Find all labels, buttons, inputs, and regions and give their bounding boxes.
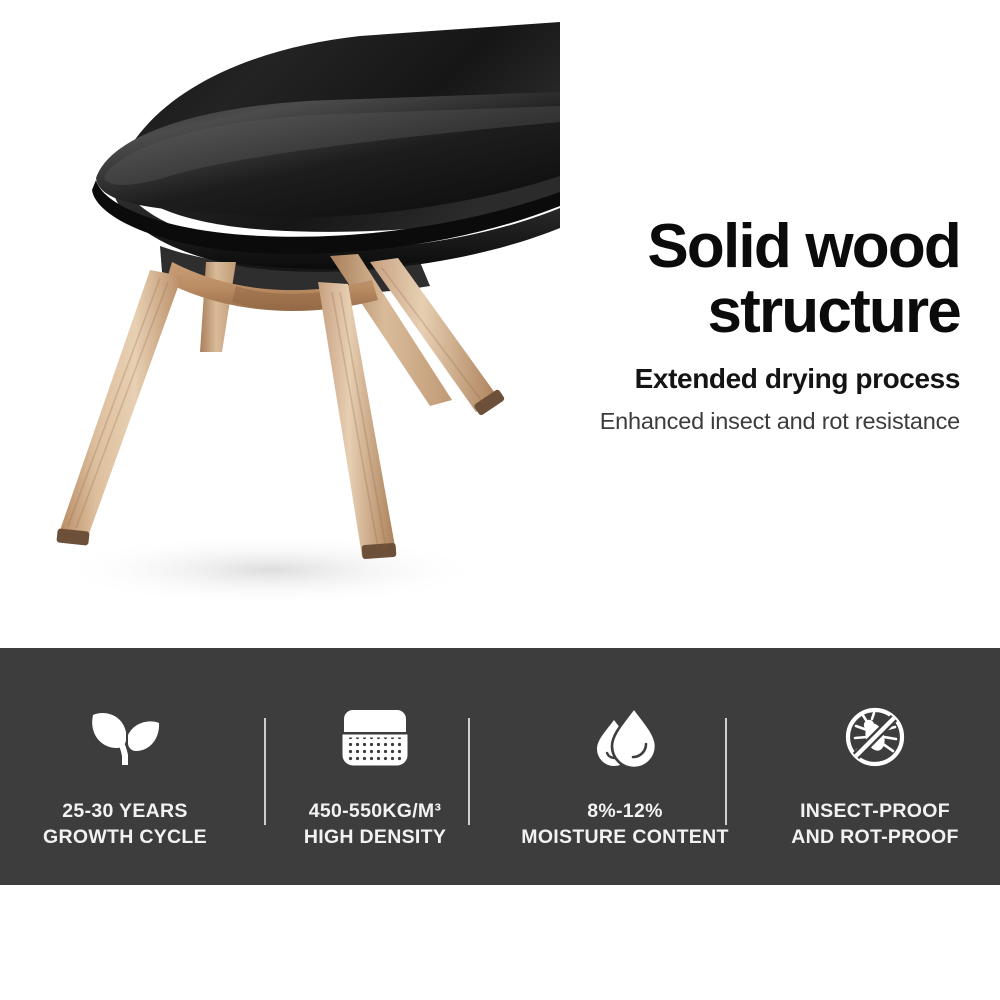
- product-marketing-banner: Solid wood structure Extended drying pro…: [0, 0, 1000, 1000]
- feature-label-growth-cycle: 25-30 YEARS GROWTH CYCLE: [43, 798, 207, 850]
- hero-section: Solid wood structure Extended drying pro…: [0, 0, 1000, 648]
- dining-chair-photo: [0, 0, 560, 648]
- no-insect-icon: [843, 706, 907, 770]
- feature-label-line-2: HIGH DENSITY: [304, 824, 446, 850]
- tagline: Enhanced insect and rot resistance: [560, 408, 960, 435]
- chair-foot-front-right: [362, 543, 397, 559]
- page-title-line-1: Solid wood: [560, 215, 960, 278]
- density-block-icon: [340, 706, 410, 770]
- water-droplets-icon: [592, 706, 658, 770]
- feature-label-line-1: 450-550KG/M³: [304, 798, 446, 824]
- feature-label-line-2: GROWTH CYCLE: [43, 824, 207, 850]
- headline-block: Solid wood structure Extended drying pro…: [560, 215, 960, 435]
- product-photo: [0, 0, 560, 648]
- leaf-icon: [88, 706, 162, 770]
- feature-label-line-1: INSECT-PROOF: [791, 798, 958, 824]
- feature-item-insect-proof: INSECT-PROOF AND ROT-PROOF: [750, 648, 1000, 850]
- feature-list: 25-30 YEARS GROWTH CYCLE: [0, 648, 1000, 885]
- feature-label-line-1: 25-30 YEARS: [43, 798, 207, 824]
- feature-label-line-2: MOISTURE CONTENT: [521, 824, 728, 850]
- feature-item-high-density: 450-550KG/M³ HIGH DENSITY: [250, 648, 500, 850]
- feature-divider-1: [264, 718, 266, 825]
- feature-item-moisture-content: 8%-12% MOISTURE CONTENT: [500, 648, 750, 850]
- bottom-white-strip: [0, 885, 1000, 1000]
- feature-label-high-density: 450-550KG/M³ HIGH DENSITY: [304, 798, 446, 850]
- feature-label-moisture-content: 8%-12% MOISTURE CONTENT: [521, 798, 728, 850]
- feature-divider-2: [468, 718, 470, 825]
- feature-label-line-2: AND ROT-PROOF: [791, 824, 958, 850]
- feature-bar: 25-30 YEARS GROWTH CYCLE: [0, 648, 1000, 885]
- feature-item-growth-cycle: 25-30 YEARS GROWTH CYCLE: [0, 648, 250, 850]
- subheadline: Extended drying process: [560, 363, 960, 395]
- feature-label-line-1: 8%-12%: [521, 798, 728, 824]
- feature-label-insect-proof: INSECT-PROOF AND ROT-PROOF: [791, 798, 958, 850]
- feature-divider-3: [725, 718, 727, 825]
- page-title-line-2: structure: [560, 280, 960, 343]
